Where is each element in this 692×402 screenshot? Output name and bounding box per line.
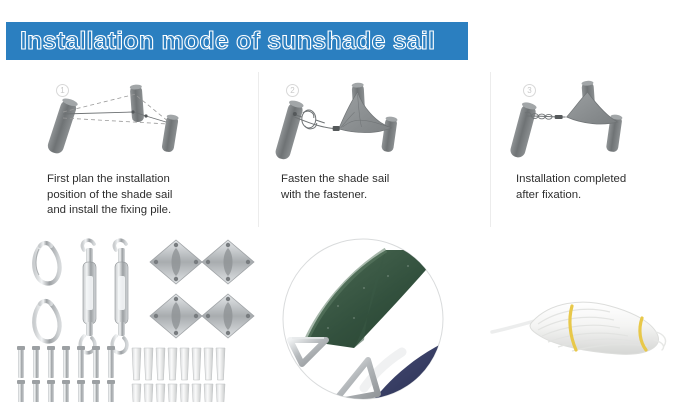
three-posts-layout-diagram	[0, 72, 258, 164]
step-2-caption: Fasten the shade sail with the fastener.	[281, 172, 389, 203]
product-infographic: Installation mode of sunshade sail 1	[0, 0, 692, 402]
step-1-figure: 1	[0, 72, 258, 164]
step-3: 3	[490, 72, 692, 227]
step-2-figure: 2	[259, 72, 490, 164]
page-title: Installation mode of sunshade sail	[6, 27, 435, 56]
title-banner: Installation mode of sunshade sail	[6, 22, 468, 60]
step-1: 1	[0, 72, 258, 227]
diamond-pad-eye-plate	[202, 240, 254, 284]
diamond-pad-eye-plate	[202, 294, 254, 338]
step-3-caption: Installation completed after fixation.	[516, 172, 626, 203]
step-1-number: 1	[56, 84, 69, 97]
product-photos	[0, 236, 692, 402]
installation-steps: 1	[0, 72, 692, 227]
hardware-kit-photo	[6, 236, 258, 402]
diamond-pad-eye-plate	[150, 240, 202, 284]
turnbuckle-hook-and-hook	[80, 240, 96, 353]
diamond-pad-eye-plate	[150, 294, 202, 338]
mounting-screws	[17, 346, 115, 402]
step-2-number: 2	[286, 84, 299, 97]
carabiner-snap-hook	[34, 301, 59, 342]
turnbuckle-hook-and-hook	[112, 240, 128, 353]
step-1-caption: First plan the installation position of …	[47, 172, 172, 219]
step-3-figure: 3	[491, 72, 692, 164]
carabiner-snap-hook	[34, 243, 59, 284]
step-2: 2	[258, 72, 490, 227]
rope-coil-photo	[476, 236, 686, 402]
hardware-kit-illustration	[6, 236, 258, 402]
rope-coil-illustration	[476, 236, 686, 402]
sail-corner-d-ring-photo	[268, 236, 458, 402]
plastic-wall-anchors	[132, 348, 225, 402]
completed-installation-diagram	[491, 72, 692, 164]
sail-corner-d-ring-illustration	[268, 236, 458, 402]
step-3-number: 3	[523, 84, 536, 97]
